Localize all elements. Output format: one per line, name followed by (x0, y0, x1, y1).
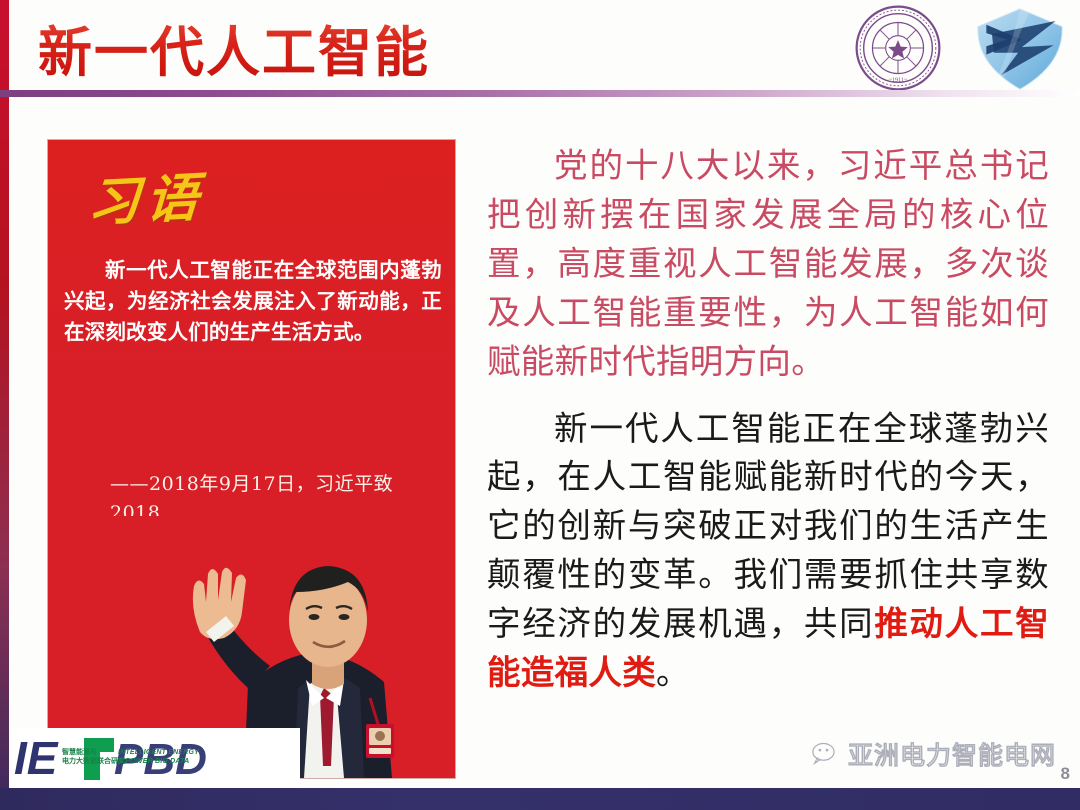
footer-logo-en-line2: & POWER BIG DATA (118, 757, 199, 766)
footer-logo: IE PBD 智慧能源与 电力大数据联合研究 INTELLIGENT ENERG… (10, 728, 300, 788)
svg-text:IE: IE (14, 732, 59, 784)
content-column: 党的十八大以来，习近平总书记把创新摆在国家发展全局的核心位置，高度重视人工智能发… (487, 142, 1049, 698)
paragraph-two: 新一代人工智能正在全球蓬勃兴起，在人工智能赋能新时代的今天，它的创新与突破正对我… (487, 405, 1049, 698)
slide-header: 新一代人工智能 (0, 0, 1080, 95)
footer-logo-cn: 智慧能源与 电力大数据联合研究 (62, 748, 125, 767)
svg-text:~1911~: ~1911~ (889, 77, 908, 83)
footer-logo-en-line1: INTELLIGENT ENERGY (118, 748, 199, 757)
slide-root: 新一代人工智能 (0, 0, 1080, 810)
page-number: 8 (1061, 764, 1070, 784)
paragraph-two-suffix: 。 (656, 653, 690, 692)
watermark-text: 亚洲电力智能电网 (848, 736, 1056, 772)
poster-brand-calligraphy: 习语 (86, 155, 206, 236)
header-divider (0, 90, 1080, 97)
paragraph-one: 党的十八大以来，习近平总书记把创新摆在国家发展全局的核心位置，高度重视人工智能发… (487, 142, 1049, 387)
poster-quote-text: 新一代人工智能正在全球范围内蓬勃兴起，为经济社会发展注入了新动能，正在深刻改变人… (64, 255, 442, 348)
header-logos: ~1911~ (854, 2, 1074, 90)
footer-logo-en: INTELLIGENT ENERGY & POWER BIG DATA (118, 748, 199, 767)
tsinghua-university-seal-icon: ~1911~ (854, 4, 942, 92)
footer-logo-cn-line2: 电力大数据联合研究 (62, 757, 125, 766)
wechat-icon (812, 742, 842, 767)
left-accent-strip (0, 0, 9, 810)
footer-bar (0, 788, 1080, 810)
page-title: 新一代人工智能 (38, 8, 430, 87)
wechat-watermark: 亚洲电力智能电网 (812, 736, 1056, 772)
quote-poster: 习语 新一代人工智能正在全球范围内蓬勃兴起，为经济社会发展注入了新动能，正在深刻… (48, 140, 455, 778)
blue-shield-logo-icon (972, 6, 1068, 92)
